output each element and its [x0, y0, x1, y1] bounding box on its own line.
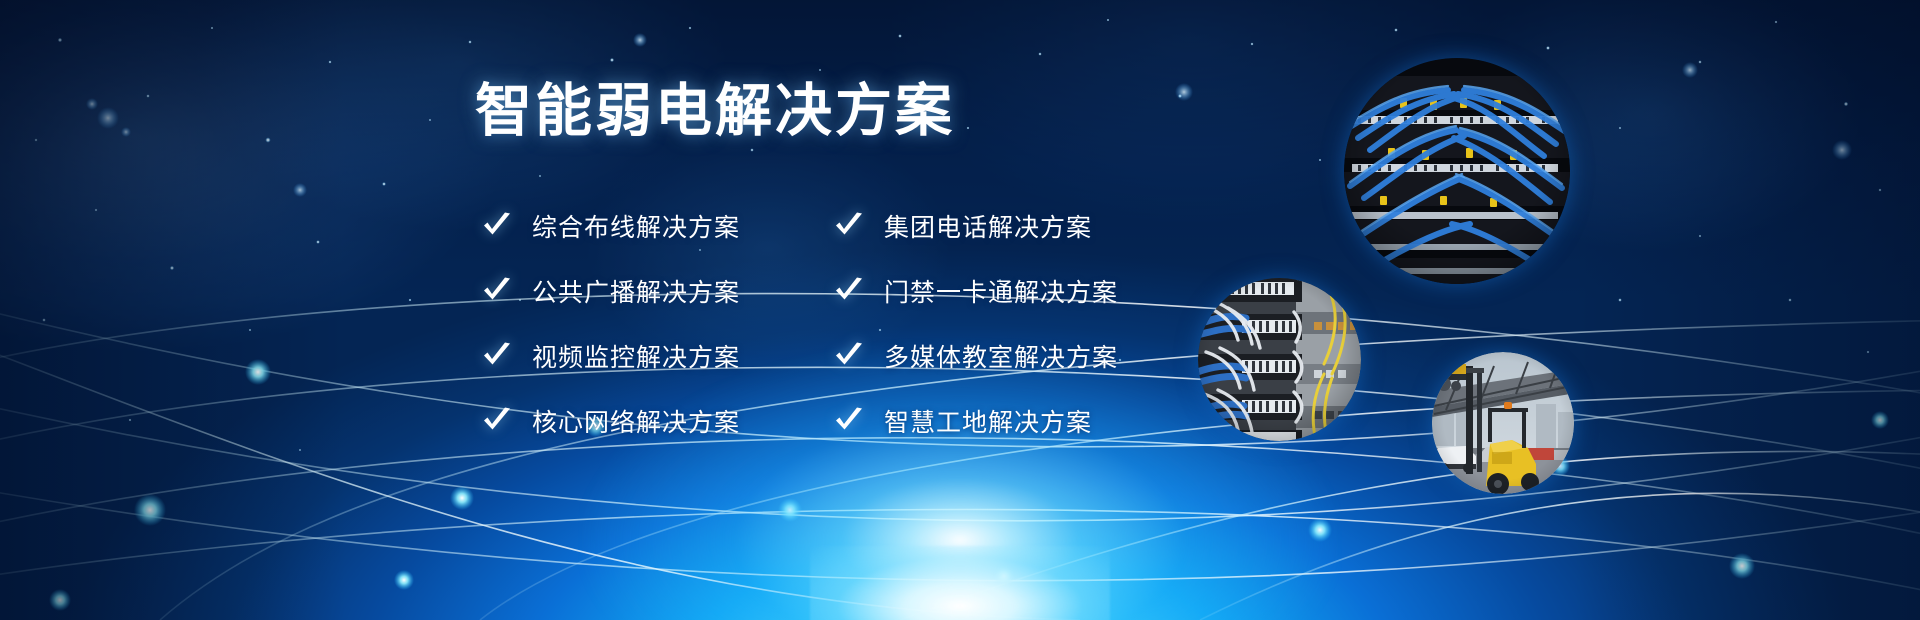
solution-item-label: 智慧工地解决方案 [884, 403, 1092, 439]
solution-item-1[interactable]: 综合布线解决方案 [482, 208, 834, 244]
solution-item-6[interactable]: 多媒体教室解决方案 [834, 338, 1118, 374]
solution-item-label: 多媒体教室解决方案 [884, 338, 1118, 374]
solution-item-label: 综合布线解决方案 [532, 208, 740, 244]
check-mark-icon [834, 342, 864, 370]
solution-item-label: 集团电话解决方案 [884, 208, 1092, 244]
solution-item-7[interactable]: 核心网络解决方案 [482, 403, 834, 439]
solution-item-8[interactable]: 智慧工地解决方案 [834, 403, 1118, 439]
check-mark-icon [482, 407, 512, 435]
page-title: 智能弱电解决方案 [475, 82, 955, 142]
check-mark-icon [834, 277, 864, 305]
solution-item-label: 门禁一卡通解决方案 [884, 273, 1118, 309]
check-mark-icon [482, 277, 512, 305]
solution-item-label: 视频监控解决方案 [532, 338, 740, 374]
check-mark-icon [834, 212, 864, 240]
solutions-list: 综合布线解决方案 集团电话解决方案 公共广播解决方案 门禁一卡通解决方案 [482, 193, 1082, 453]
network-cabling-photo [1344, 58, 1570, 284]
check-mark-icon [482, 342, 512, 370]
solution-item-2[interactable]: 集团电话解决方案 [834, 208, 1118, 244]
solution-item-3[interactable]: 公共广播解决方案 [482, 273, 834, 309]
solution-item-4[interactable]: 门禁一卡通解决方案 [834, 273, 1118, 309]
solution-item-5[interactable]: 视频监控解决方案 [482, 338, 834, 374]
solution-item-label: 核心网络解决方案 [532, 403, 740, 439]
network-switch-photo [1198, 278, 1361, 441]
construction-site-photo [1432, 352, 1574, 494]
solutions-banner: 智能弱电解决方案 综合布线解决方案 集团电话解决方案 公共广播解决方案 [0, 0, 1920, 620]
check-mark-icon [482, 212, 512, 240]
check-mark-icon [834, 407, 864, 435]
solution-item-label: 公共广播解决方案 [532, 273, 740, 309]
